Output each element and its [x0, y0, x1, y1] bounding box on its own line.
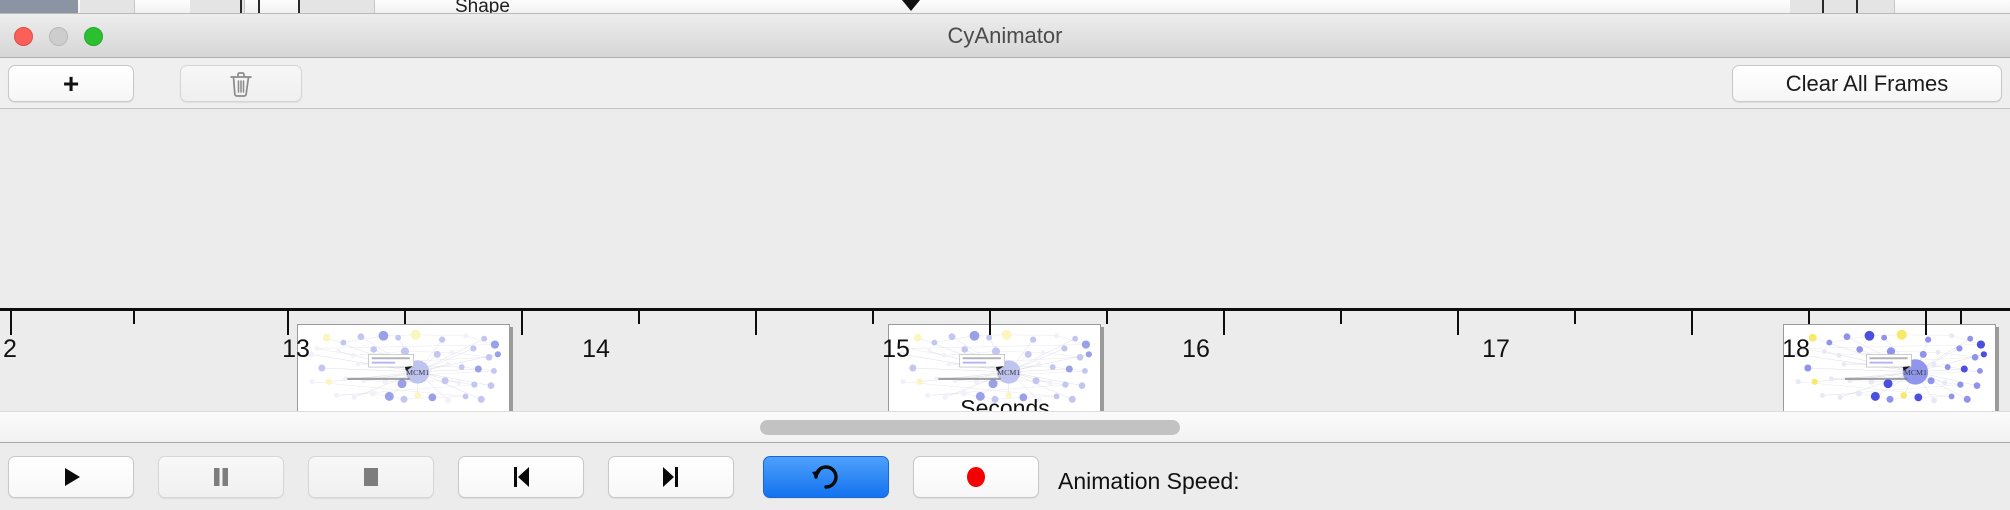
ruler-tick-minor — [404, 311, 406, 324]
transport-bar: Animation Speed: — [0, 444, 2010, 510]
ruler-tick-minor — [1106, 311, 1108, 324]
animation-speed-label: Animation Speed: — [1058, 468, 1240, 495]
clear-all-frames-button[interactable]: Clear All Frames — [1732, 65, 2002, 102]
loop-icon — [809, 462, 843, 492]
skip-forward-icon — [654, 462, 688, 492]
add-frame-button[interactable]: + — [8, 65, 134, 102]
background-chip — [80, 0, 135, 13]
ruler-tick-major — [10, 311, 12, 335]
ruler-tick-minor — [872, 311, 874, 324]
timeline-ruler — [0, 308, 2010, 311]
ruler-tick-major — [1223, 311, 1225, 335]
ruler-tick-major — [521, 311, 523, 335]
ruler-tick-label: 14 — [582, 335, 610, 364]
background-tick — [1822, 0, 1824, 13]
axis-title: Seconds — [0, 395, 2010, 411]
background-chip — [300, 0, 375, 13]
ruler-tick-label: 2 — [3, 335, 17, 364]
skip-back-icon — [504, 462, 538, 492]
skip-to-end-button[interactable] — [608, 456, 734, 498]
pause-button[interactable] — [158, 456, 284, 498]
pause-icon — [204, 462, 238, 492]
stop-icon — [354, 462, 388, 492]
svg-text:MCM1: MCM1 — [997, 368, 1020, 377]
background-tick — [258, 0, 260, 13]
plus-icon: + — [63, 70, 79, 98]
play-icon — [54, 462, 88, 492]
stop-button[interactable] — [308, 456, 434, 498]
horizontal-scrollbar[interactable] — [0, 411, 2010, 443]
background-tick — [1856, 0, 1858, 13]
ruler-tick-major — [287, 311, 289, 335]
background-window-sidebar — [0, 0, 78, 13]
delete-frame-button[interactable] — [180, 65, 302, 102]
loop-button[interactable] — [763, 456, 889, 498]
ruler-tick-minor — [1340, 311, 1342, 324]
background-window-label: Shape — [455, 0, 510, 14]
svg-text:MCM1: MCM1 — [406, 368, 429, 377]
background-tick — [240, 0, 242, 13]
record-button[interactable] — [913, 456, 1039, 498]
ruler-tick-minor — [133, 311, 135, 324]
scrollbar-thumb[interactable] — [760, 420, 1180, 435]
title-bar: CyAnimator — [0, 14, 2010, 58]
ruler-tick-label: 15 — [882, 335, 910, 364]
ruler-tick-minor — [638, 311, 640, 324]
ruler-tick-label: 17 — [1482, 335, 1510, 364]
background-chip — [1790, 0, 1895, 13]
ruler-tick-minor — [1960, 311, 1962, 324]
cyanimator-window: Shape CyAnimator + Clear All Frames MCM1… — [0, 0, 2010, 510]
ruler-tick-major — [989, 311, 991, 335]
clear-all-frames-label: Clear All Frames — [1786, 71, 1949, 97]
background-arrow-icon — [902, 0, 920, 11]
background-tick — [298, 0, 300, 13]
skip-to-start-button[interactable] — [458, 456, 584, 498]
window-title: CyAnimator — [0, 14, 2010, 58]
svg-text:MCM1: MCM1 — [1904, 368, 1927, 377]
toolbar: + Clear All Frames — [0, 58, 2010, 109]
ruler-tick-label: 18 — [1782, 335, 1810, 364]
ruler-tick-minor — [1574, 311, 1576, 324]
ruler-tick-label: 16 — [1182, 335, 1210, 364]
ruler-tick-major — [755, 311, 757, 335]
ruler-tick-major — [1925, 311, 1927, 335]
ruler-tick-major — [1457, 311, 1459, 335]
play-button[interactable] — [8, 456, 134, 498]
trash-icon — [228, 70, 254, 98]
ruler-tick-label: 13 — [282, 335, 310, 364]
ruler-tick-minor — [1808, 311, 1810, 324]
background-chip — [190, 0, 245, 13]
background-window-strip: Shape — [0, 0, 2010, 14]
timeline-panel[interactable]: MCM1MCM1MCM1 2131415161718 Seconds — [0, 110, 2010, 411]
record-icon — [959, 462, 993, 492]
ruler-tick-major — [1691, 311, 1693, 335]
